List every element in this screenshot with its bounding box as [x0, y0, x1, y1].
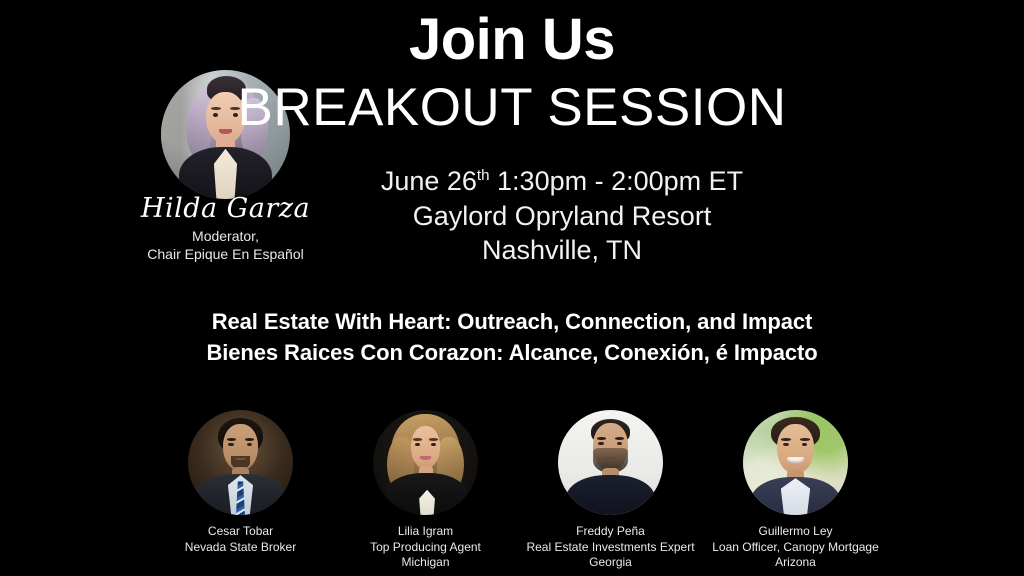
speaker-title: Nevada State Broker — [148, 540, 333, 556]
speaker-card: Guillermo Ley Loan Officer, Canopy Mortg… — [703, 410, 888, 571]
session-title-en: Real Estate With Heart: Outreach, Connec… — [52, 306, 972, 337]
speaker-card: Freddy Peña Real Estate Investments Expe… — [518, 410, 703, 571]
speaker-photo — [743, 410, 848, 515]
speaker-card: Cesar Tobar Nevada State Broker — [148, 410, 333, 555]
speaker-title: Top Producing Agent — [333, 540, 518, 556]
moderator-role-line-1: Moderator, — [118, 228, 333, 246]
speaker-location: Georgia — [518, 555, 703, 571]
speaker-caption: Lilia Igram Top Producing Agent Michigan — [333, 524, 518, 571]
moderator-role-line-2: Chair Epique En Español — [118, 246, 333, 264]
event-details: June 26th 1:30pm - 2:00pm ET Gaylord Opr… — [312, 164, 812, 268]
speaker-name: Freddy Peña — [518, 524, 703, 540]
event-poster: Hilda Garza Moderator, Chair Epique En E… — [0, 0, 1024, 576]
speakers-row: Cesar Tobar Nevada State Broker — [148, 410, 888, 571]
speaker-caption: Guillermo Ley Loan Officer, Canopy Mortg… — [703, 524, 888, 571]
event-datetime: June 26th 1:30pm - 2:00pm ET — [312, 164, 812, 199]
event-venue: Gaylord Opryland Resort — [312, 199, 812, 234]
event-date: June 26 — [381, 166, 477, 196]
page-title: Join Us — [0, 10, 1024, 71]
session-title: Real Estate With Heart: Outreach, Connec… — [52, 306, 972, 368]
speaker-title: Loan Officer, Canopy Mortgage — [703, 540, 888, 556]
event-time-range: 1:30pm - 2:00pm ET — [490, 166, 744, 196]
speaker-name: Cesar Tobar — [148, 524, 333, 540]
speaker-photo — [373, 410, 478, 515]
speaker-photo — [558, 410, 663, 515]
speaker-card: Lilia Igram Top Producing Agent Michigan — [333, 410, 518, 571]
speaker-photo — [188, 410, 293, 515]
speaker-name: Guillermo Ley — [703, 524, 888, 540]
speaker-location: Michigan — [333, 555, 518, 571]
moderator-signature: Hilda Garza — [118, 193, 333, 224]
event-city-state: Nashville, TN — [312, 233, 812, 268]
speaker-caption: Freddy Peña Real Estate Investments Expe… — [518, 524, 703, 571]
speaker-caption: Cesar Tobar Nevada State Broker — [148, 524, 333, 555]
speaker-name: Lilia Igram — [333, 524, 518, 540]
session-title-es: Bienes Raices Con Corazon: Alcance, Cone… — [52, 337, 972, 368]
page-subtitle: BREAKOUT SESSION — [0, 80, 1024, 136]
speaker-title: Real Estate Investments Expert — [518, 540, 703, 556]
speaker-location: Arizona — [703, 555, 888, 571]
moderator-role: Moderator, Chair Epique En Español — [118, 228, 333, 264]
event-date-ordinal: th — [477, 167, 490, 184]
